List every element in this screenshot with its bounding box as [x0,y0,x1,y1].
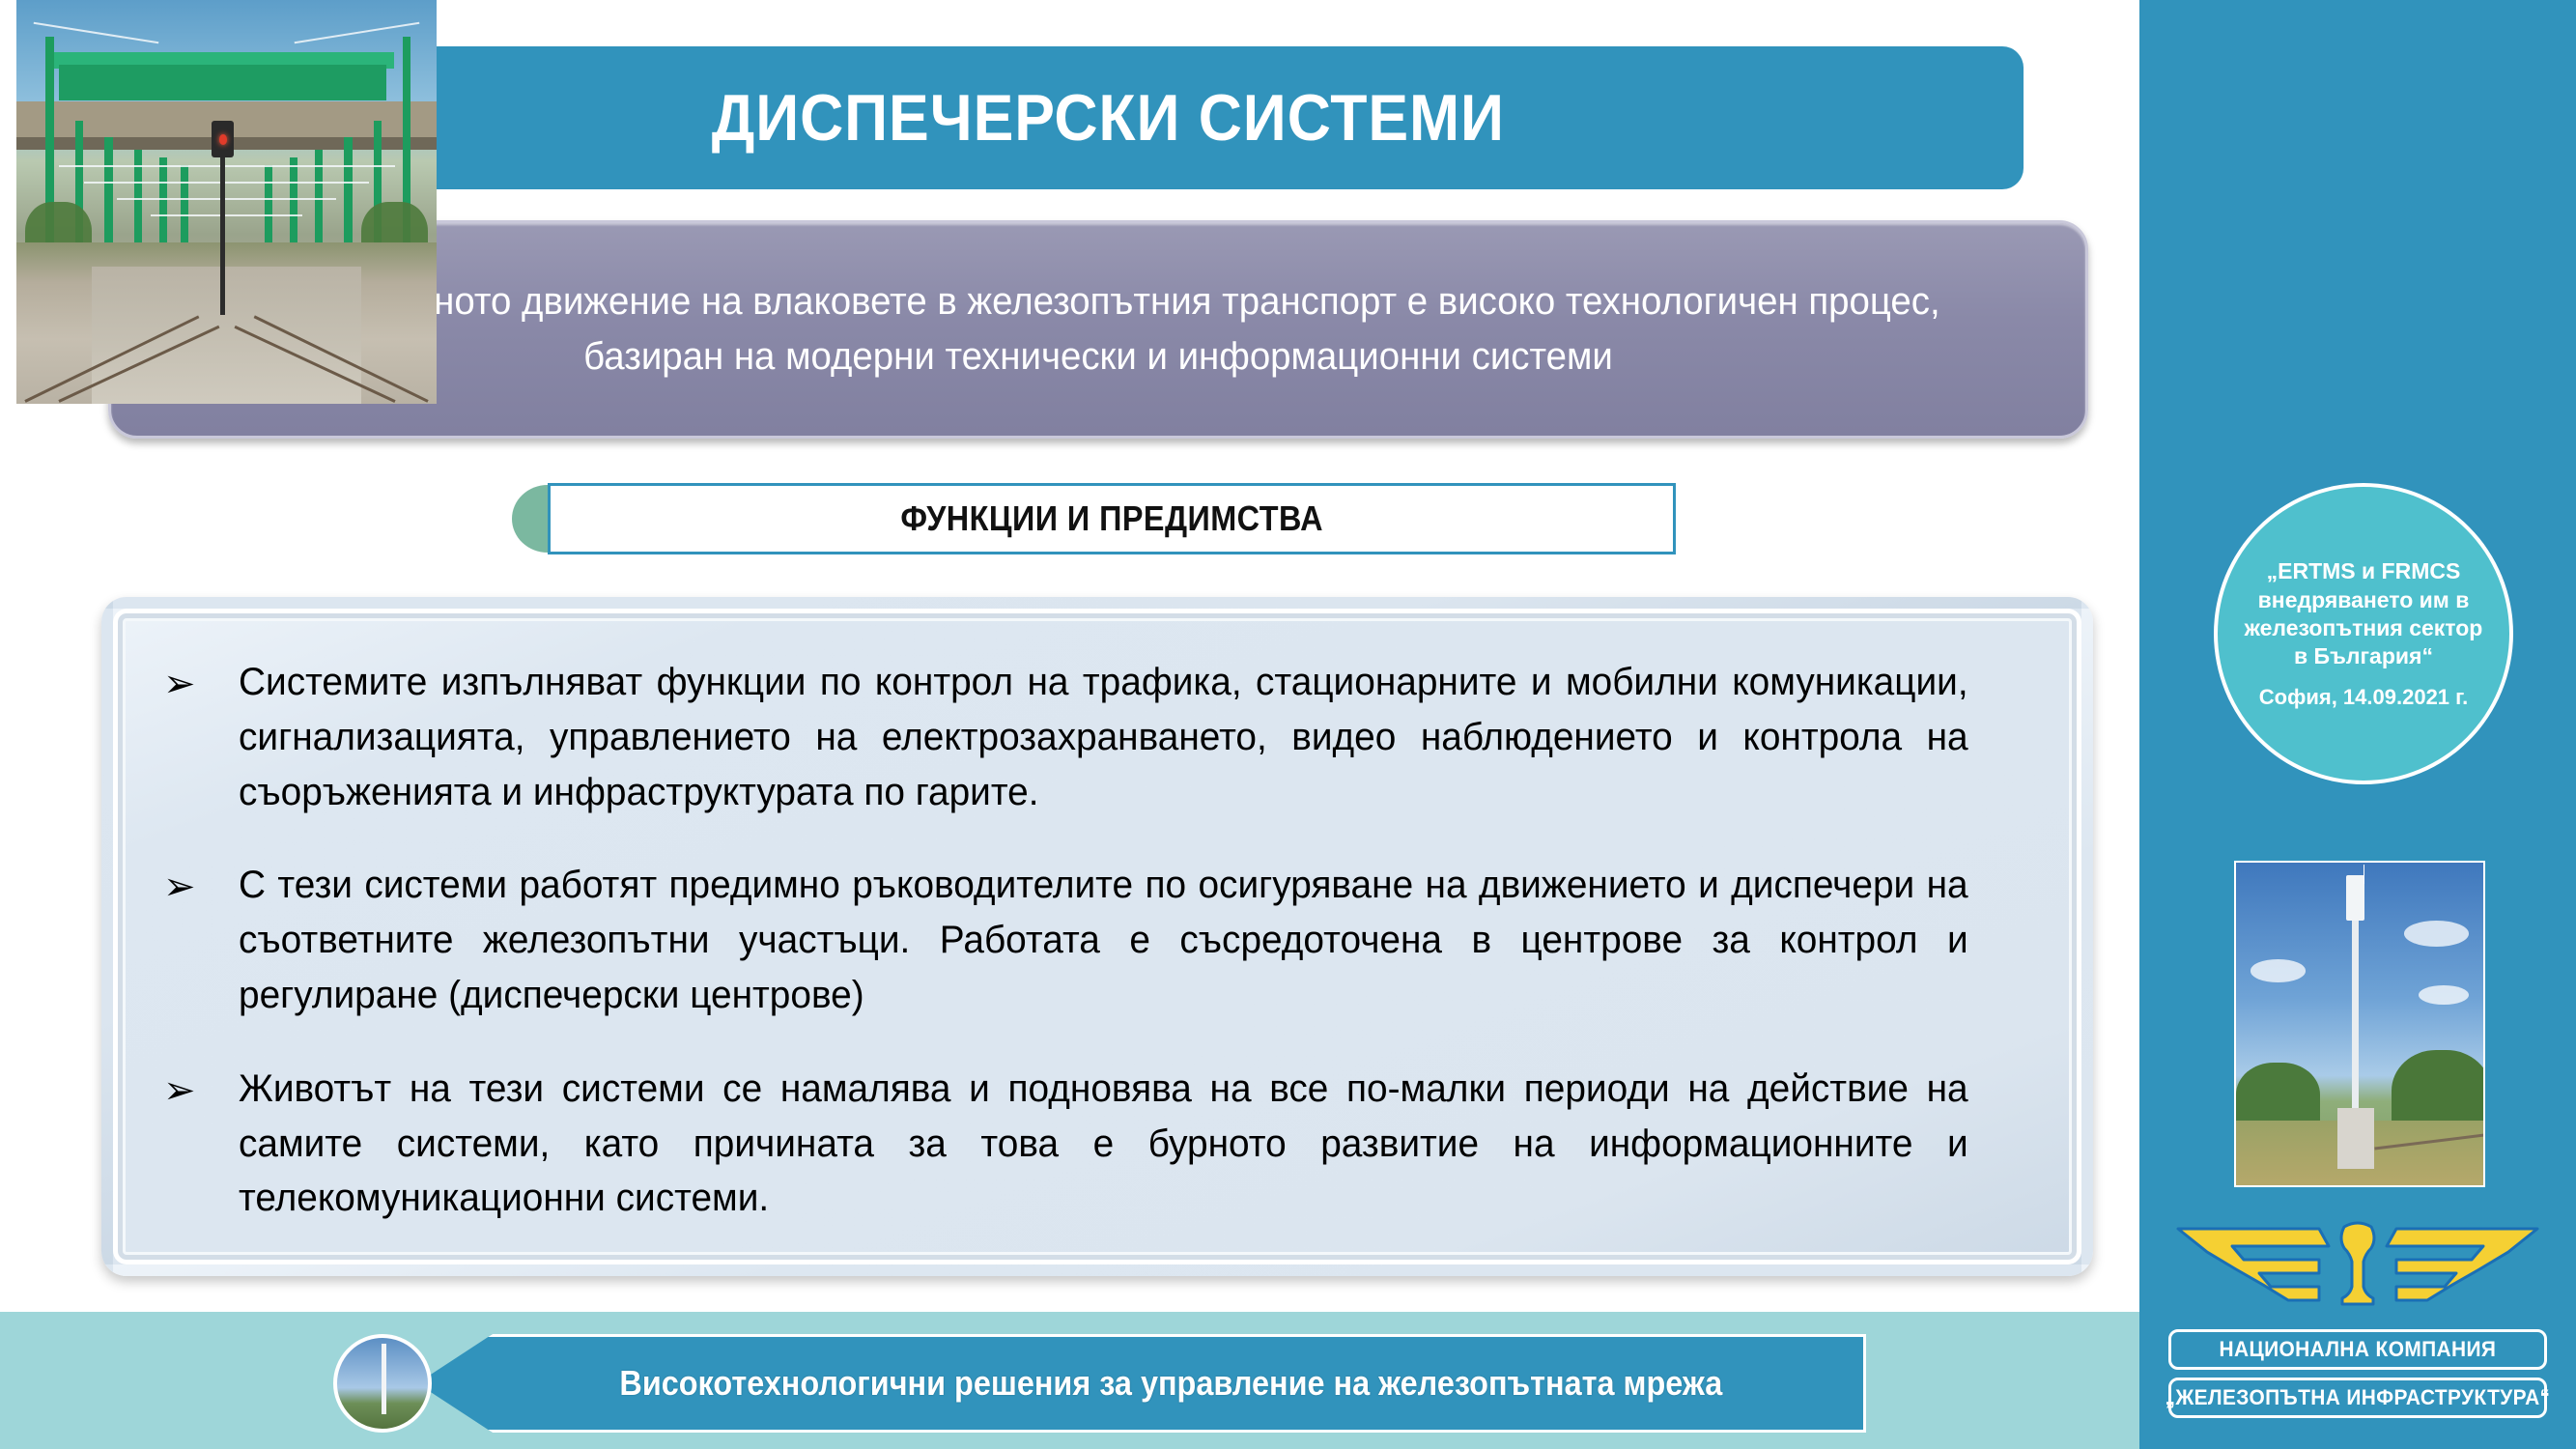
bullet-item: ➢ Системите изпълняват функции по контро… [163,655,2022,819]
section-header: ФУНКЦИИ И ПРЕДИМСТВА [512,483,1676,554]
overhead-wire-shape [151,214,302,216]
arrow-bullet-icon: ➢ [163,655,239,819]
mast-shape [382,1344,386,1414]
logo-line-2: „ЖЕЛЕЗОПЪТНА ИНФРАСТРУКТУРА“ [2168,1378,2547,1418]
logo-line-1-text: НАЦИОНАЛНА КОМПАНИЯ [2220,1337,2497,1362]
bullet-item: ➢ С тези системи работят предимно ръково… [163,858,2022,1022]
section-header-label: ФУНКЦИИ И ПРЕДИМСТВА [900,498,1323,539]
slide-title: ДИСПЕЧЕРСКИ СИСТЕМИ [712,80,1505,156]
red-signal-light-icon [219,134,227,145]
bullet-text: Системите изпълняват функции по контрол … [239,655,1968,819]
section-header-box: ФУНКЦИИ И ПРЕДИМСТВА [548,483,1676,554]
cloud-shape [2404,921,2469,947]
event-title: „ERTMS и FRMCS внедряването им в железоп… [2243,557,2484,671]
presentation-slide: ДИСПЕЧЕРСКИ СИСТЕМИ Съвременното движени… [0,0,2576,1449]
arrow-bullet-icon: ➢ [163,858,239,1022]
cloud-shape [2250,959,2305,981]
footer-circle-image [333,1334,432,1433]
mast-base-shape [2337,1108,2374,1169]
footer-text: Високотехнологични решения за управление… [619,1363,1722,1404]
footer-banner: Високотехнологични решения за управление… [417,1334,1866,1433]
antenna-spike-shape [2364,865,2364,884]
overhead-wire-shape [295,22,419,43]
cloud-shape [2419,985,2468,1005]
content-panel: ➢ Системите изпълняват функции по контро… [101,597,2093,1276]
bridge-green-shape [59,65,386,101]
logo-line-2-text: „ЖЕЛЕЗОПЪТНА ИНФРАСТРУКТУРА“ [2166,1385,2551,1410]
bullet-item: ➢ Животът на тези системи се намалява и … [163,1062,2022,1226]
event-title-bubble: „ERTMS и FRMCS внедряването им в железоп… [2214,483,2513,784]
overhead-wire-shape [59,165,395,167]
arrow-bullet-icon: ➢ [163,1062,239,1226]
overhead-wire-shape [84,182,370,184]
mast-shape [2352,885,2359,1140]
winged-rail-emblem-icon [2174,1217,2541,1310]
slide-title-bar: ДИСПЕЧЕРСКИ СИСТЕМИ [193,46,2024,189]
bullet-text: Животът на тези системи се намалява и по… [239,1062,1968,1226]
event-place-date: София, 14.09.2021 г. [2259,685,2468,710]
overhead-wire-shape [117,198,335,200]
antenna-shape [2346,875,2364,921]
ballast-shape [92,267,360,404]
telecom-mast-photo [2234,861,2485,1187]
subtitle-text: Съвременното движение на влаковете в жел… [203,274,1995,384]
railway-tracks-photo [16,0,437,404]
bullet-text: С тези системи работят предимно ръководи… [239,858,1968,1022]
logo-line-1: НАЦИОНАЛНА КОМПАНИЯ [2168,1329,2547,1370]
company-logo: НАЦИОНАЛНА КОМПАНИЯ „ЖЕЛЕЗОПЪТНА ИНФРАСТ… [2139,1211,2576,1449]
